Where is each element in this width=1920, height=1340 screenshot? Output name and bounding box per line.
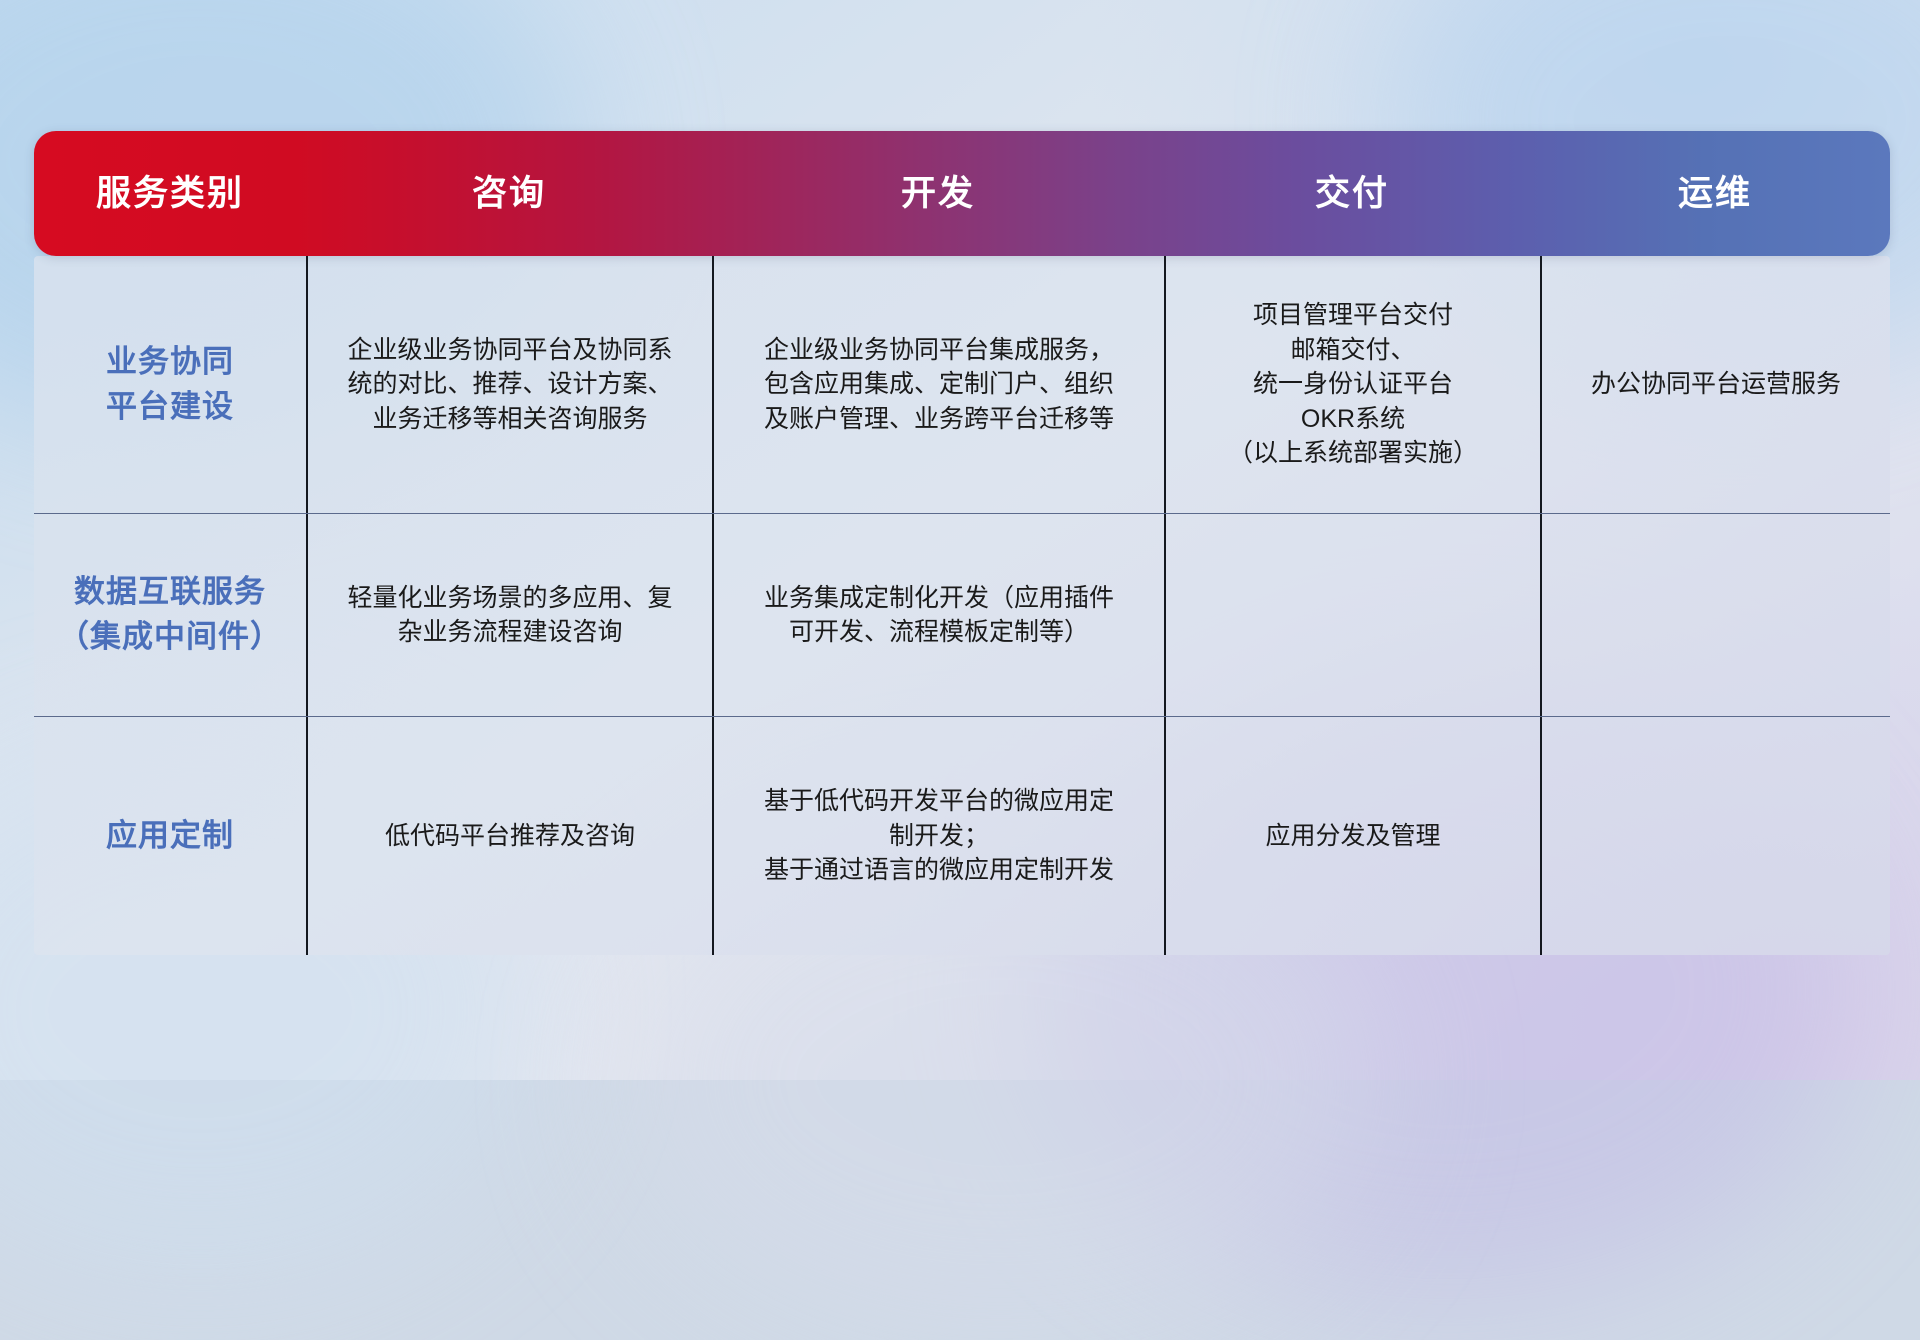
- cell-text: 轻量化业务场景的多应用、复 杂业务流程建设咨询: [347, 581, 672, 650]
- service-matrix-table: 服务类别 咨询 开发 交付 运维 业务协同 平台建设 企业级业务协同平台及协同系…: [34, 131, 1890, 955]
- table-header-development: 开发: [712, 176, 1164, 211]
- table-header-service-category: 服务类别: [34, 176, 306, 211]
- table-header-consulting: 咨询: [306, 176, 712, 211]
- cell-text: 业务集成定制化开发（应用插件 可开发、流程模板定制等）: [764, 581, 1114, 650]
- cell-consulting: 轻量化业务场景的多应用、复 杂业务流程建设咨询: [306, 514, 712, 716]
- cell-development: 业务集成定制化开发（应用插件 可开发、流程模板定制等）: [712, 514, 1164, 716]
- cell-operations: 办公协同平台运营服务: [1540, 256, 1890, 513]
- cell-category: 数据互联服务 （集成中间件）: [34, 514, 306, 716]
- cell-text: 低代码平台推荐及咨询: [385, 819, 635, 854]
- category-label: 业务协同 平台建设: [106, 340, 234, 430]
- cell-operations: [1540, 514, 1890, 716]
- table-row: 数据互联服务 （集成中间件） 轻量化业务场景的多应用、复 杂业务流程建设咨询 业…: [34, 513, 1890, 716]
- cell-development: 基于低代码开发平台的微应用定 制开发； 基于通过语言的微应用定制开发: [712, 717, 1164, 955]
- cell-delivery: [1164, 514, 1540, 716]
- cell-category: 业务协同 平台建设: [34, 256, 306, 513]
- cell-consulting: 企业级业务协同平台及协同系 统的对比、推荐、设计方案、 业务迁移等相关咨询服务: [306, 256, 712, 513]
- table-row: 业务协同 平台建设 企业级业务协同平台及协同系 统的对比、推荐、设计方案、 业务…: [34, 256, 1890, 513]
- table-header-delivery: 交付: [1164, 176, 1540, 211]
- cell-text: 基于低代码开发平台的微应用定 制开发； 基于通过语言的微应用定制开发: [764, 784, 1114, 888]
- cell-text: 应用分发及管理: [1265, 819, 1440, 854]
- cell-development: 企业级业务协同平台集成服务， 包含应用集成、定制门户、组织 及账户管理、业务跨平…: [712, 256, 1164, 513]
- category-label: 应用定制: [106, 814, 234, 859]
- cell-text: 办公协同平台运营服务: [1591, 367, 1841, 402]
- cell-delivery: 应用分发及管理: [1164, 717, 1540, 955]
- cell-delivery: 项目管理平台交付 邮箱交付、 统一身份认证平台 OKR系统 （以上系统部署实施）: [1164, 256, 1540, 513]
- category-label: 数据互联服务 （集成中间件）: [58, 570, 282, 660]
- table-body: 业务协同 平台建设 企业级业务协同平台及协同系 统的对比、推荐、设计方案、 业务…: [34, 256, 1890, 955]
- cell-text: 企业级业务协同平台及协同系 统的对比、推荐、设计方案、 业务迁移等相关咨询服务: [347, 333, 672, 437]
- cell-text: 项目管理平台交付 邮箱交付、 统一身份认证平台 OKR系统 （以上系统部署实施）: [1228, 298, 1478, 471]
- table-row: 应用定制 低代码平台推荐及咨询 基于低代码开发平台的微应用定 制开发； 基于通过…: [34, 716, 1890, 955]
- cell-category: 应用定制: [34, 717, 306, 955]
- cell-consulting: 低代码平台推荐及咨询: [306, 717, 712, 955]
- table-header-row: 服务类别 咨询 开发 交付 运维: [34, 131, 1890, 256]
- table-header-operations: 运维: [1540, 176, 1890, 211]
- cell-operations: [1540, 717, 1890, 955]
- cell-text: 企业级业务协同平台集成服务， 包含应用集成、定制门户、组织 及账户管理、业务跨平…: [764, 333, 1114, 437]
